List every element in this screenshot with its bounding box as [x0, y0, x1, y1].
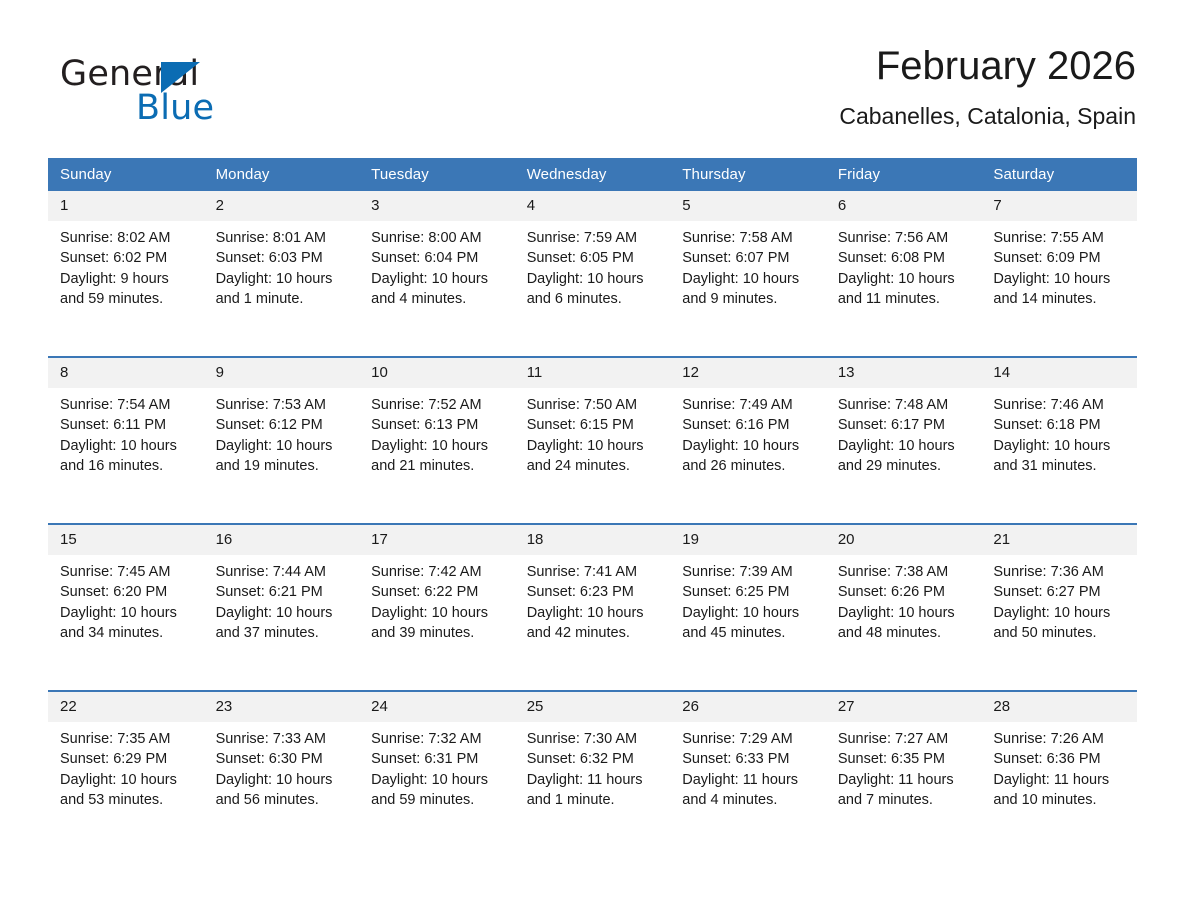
sunrise-text: Sunrise: 7:59 AM: [527, 228, 663, 248]
day-cell[interactable]: 6 Sunrise: 7:56 AM Sunset: 6:08 PM Dayli…: [826, 191, 982, 357]
sunset-text: Sunset: 6:20 PM: [60, 582, 196, 602]
daylight-text: Daylight: 11 hours and 4 minutes.: [682, 770, 818, 811]
day-number: 15: [48, 525, 204, 555]
day-details: Sunrise: 7:27 AM Sunset: 6:35 PM Dayligh…: [826, 722, 982, 811]
page-header: General Blue February 2026 Cabanelles, C…: [48, 40, 1136, 148]
day-details: Sunrise: 7:50 AM Sunset: 6:15 PM Dayligh…: [515, 388, 671, 477]
sunset-text: Sunset: 6:21 PM: [216, 582, 352, 602]
page-title: February 2026: [839, 40, 1136, 92]
day-cell[interactable]: 25 Sunrise: 7:30 AM Sunset: 6:32 PM Dayl…: [515, 691, 671, 857]
sunset-text: Sunset: 6:09 PM: [993, 248, 1129, 268]
sunset-text: Sunset: 6:07 PM: [682, 248, 818, 268]
sunset-text: Sunset: 6:12 PM: [216, 415, 352, 435]
sunrise-text: Sunrise: 7:52 AM: [371, 395, 507, 415]
day-number: 11: [515, 358, 671, 388]
day-number: 4: [515, 191, 671, 221]
day-number: 2: [204, 191, 360, 221]
calendar-week-row: 8 Sunrise: 7:54 AM Sunset: 6:11 PM Dayli…: [48, 357, 1137, 524]
day-cell[interactable]: 21 Sunrise: 7:36 AM Sunset: 6:27 PM Dayl…: [981, 524, 1137, 691]
day-cell[interactable]: 4 Sunrise: 7:59 AM Sunset: 6:05 PM Dayli…: [515, 191, 671, 357]
day-cell[interactable]: 3 Sunrise: 8:00 AM Sunset: 6:04 PM Dayli…: [359, 191, 515, 357]
day-cell[interactable]: 18 Sunrise: 7:41 AM Sunset: 6:23 PM Dayl…: [515, 524, 671, 691]
sunset-text: Sunset: 6:31 PM: [371, 749, 507, 769]
day-cell[interactable]: 27 Sunrise: 7:27 AM Sunset: 6:35 PM Dayl…: [826, 691, 982, 857]
day-details: Sunrise: 7:46 AM Sunset: 6:18 PM Dayligh…: [981, 388, 1137, 477]
sunset-text: Sunset: 6:16 PM: [682, 415, 818, 435]
day-cell[interactable]: 23 Sunrise: 7:33 AM Sunset: 6:30 PM Dayl…: [204, 691, 360, 857]
sunset-text: Sunset: 6:23 PM: [527, 582, 663, 602]
sunrise-text: Sunrise: 7:29 AM: [682, 729, 818, 749]
sunrise-text: Sunrise: 7:35 AM: [60, 729, 196, 749]
day-number: 17: [359, 525, 515, 555]
day-details: Sunrise: 7:56 AM Sunset: 6:08 PM Dayligh…: [826, 221, 982, 310]
daylight-text: Daylight: 10 hours and 37 minutes.: [216, 603, 352, 644]
daylight-text: Daylight: 10 hours and 53 minutes.: [60, 770, 196, 811]
day-details: Sunrise: 7:59 AM Sunset: 6:05 PM Dayligh…: [515, 221, 671, 310]
day-number: 8: [48, 358, 204, 388]
day-cell[interactable]: 22 Sunrise: 7:35 AM Sunset: 6:29 PM Dayl…: [48, 691, 204, 857]
weekday-header-wednesday: Wednesday: [515, 158, 671, 191]
calendar-week-row: 22 Sunrise: 7:35 AM Sunset: 6:29 PM Dayl…: [48, 691, 1137, 857]
weekday-header-sunday: Sunday: [48, 158, 204, 191]
day-details: Sunrise: 7:32 AM Sunset: 6:31 PM Dayligh…: [359, 722, 515, 811]
sunset-text: Sunset: 6:33 PM: [682, 749, 818, 769]
sunset-text: Sunset: 6:29 PM: [60, 749, 196, 769]
sunset-text: Sunset: 6:32 PM: [527, 749, 663, 769]
weekday-header-friday: Friday: [826, 158, 982, 191]
generalblue-logo[interactable]: General Blue: [60, 54, 350, 134]
sunset-text: Sunset: 6:35 PM: [838, 749, 974, 769]
daylight-text: Daylight: 10 hours and 11 minutes.: [838, 269, 974, 310]
day-number: 1: [48, 191, 204, 221]
daylight-text: Daylight: 10 hours and 45 minutes.: [682, 603, 818, 644]
daylight-text: Daylight: 9 hours and 59 minutes.: [60, 269, 196, 310]
logo-text-blue: Blue: [136, 88, 214, 128]
daylight-text: Daylight: 10 hours and 34 minutes.: [60, 603, 196, 644]
day-cell[interactable]: 13 Sunrise: 7:48 AM Sunset: 6:17 PM Dayl…: [826, 357, 982, 524]
sunrise-text: Sunrise: 8:01 AM: [216, 228, 352, 248]
daylight-text: Daylight: 11 hours and 7 minutes.: [838, 770, 974, 811]
calendar-week-row: 15 Sunrise: 7:45 AM Sunset: 6:20 PM Dayl…: [48, 524, 1137, 691]
day-cell[interactable]: 15 Sunrise: 7:45 AM Sunset: 6:20 PM Dayl…: [48, 524, 204, 691]
day-number: 6: [826, 191, 982, 221]
sunrise-text: Sunrise: 7:45 AM: [60, 562, 196, 582]
day-cell[interactable]: 26 Sunrise: 7:29 AM Sunset: 6:33 PM Dayl…: [670, 691, 826, 857]
sunrise-text: Sunrise: 7:38 AM: [838, 562, 974, 582]
daylight-text: Daylight: 10 hours and 56 minutes.: [216, 770, 352, 811]
daylight-text: Daylight: 10 hours and 48 minutes.: [838, 603, 974, 644]
day-details: Sunrise: 7:36 AM Sunset: 6:27 PM Dayligh…: [981, 555, 1137, 644]
sunset-text: Sunset: 6:02 PM: [60, 248, 196, 268]
day-cell[interactable]: 11 Sunrise: 7:50 AM Sunset: 6:15 PM Dayl…: [515, 357, 671, 524]
daylight-text: Daylight: 10 hours and 9 minutes.: [682, 269, 818, 310]
day-details: Sunrise: 7:42 AM Sunset: 6:22 PM Dayligh…: [359, 555, 515, 644]
sunrise-text: Sunrise: 7:48 AM: [838, 395, 974, 415]
day-details: Sunrise: 7:35 AM Sunset: 6:29 PM Dayligh…: [48, 722, 204, 811]
day-details: Sunrise: 8:01 AM Sunset: 6:03 PM Dayligh…: [204, 221, 360, 310]
day-details: Sunrise: 7:45 AM Sunset: 6:20 PM Dayligh…: [48, 555, 204, 644]
sunrise-text: Sunrise: 8:02 AM: [60, 228, 196, 248]
day-number: 21: [981, 525, 1137, 555]
sunrise-text: Sunrise: 7:39 AM: [682, 562, 818, 582]
daylight-text: Daylight: 10 hours and 14 minutes.: [993, 269, 1129, 310]
weekday-header-tuesday: Tuesday: [359, 158, 515, 191]
sunset-text: Sunset: 6:25 PM: [682, 582, 818, 602]
day-number: 7: [981, 191, 1137, 221]
sunset-text: Sunset: 6:04 PM: [371, 248, 507, 268]
day-details: Sunrise: 7:58 AM Sunset: 6:07 PM Dayligh…: [670, 221, 826, 310]
sunrise-text: Sunrise: 7:54 AM: [60, 395, 196, 415]
day-cell[interactable]: 12 Sunrise: 7:49 AM Sunset: 6:16 PM Dayl…: [670, 357, 826, 524]
sunset-text: Sunset: 6:17 PM: [838, 415, 974, 435]
day-details: Sunrise: 7:44 AM Sunset: 6:21 PM Dayligh…: [204, 555, 360, 644]
day-cell[interactable]: 1 Sunrise: 8:02 AM Sunset: 6:02 PM Dayli…: [48, 191, 204, 357]
day-details: Sunrise: 7:49 AM Sunset: 6:16 PM Dayligh…: [670, 388, 826, 477]
day-cell[interactable]: 7 Sunrise: 7:55 AM Sunset: 6:09 PM Dayli…: [981, 191, 1137, 357]
daylight-text: Daylight: 10 hours and 29 minutes.: [838, 436, 974, 477]
calendar-page: General Blue February 2026 Cabanelles, C…: [0, 0, 1188, 918]
sunrise-sunset-calendar: Sunday Monday Tuesday Wednesday Thursday…: [48, 158, 1137, 857]
day-number: 23: [204, 692, 360, 722]
sunrise-text: Sunrise: 7:27 AM: [838, 729, 974, 749]
sunset-text: Sunset: 6:26 PM: [838, 582, 974, 602]
sunrise-text: Sunrise: 8:00 AM: [371, 228, 507, 248]
day-cell[interactable]: 24 Sunrise: 7:32 AM Sunset: 6:31 PM Dayl…: [359, 691, 515, 857]
sunrise-text: Sunrise: 7:50 AM: [527, 395, 663, 415]
day-details: Sunrise: 7:54 AM Sunset: 6:11 PM Dayligh…: [48, 388, 204, 477]
weekday-header-monday: Monday: [204, 158, 360, 191]
weekday-header-thursday: Thursday: [670, 158, 826, 191]
day-details: Sunrise: 8:00 AM Sunset: 6:04 PM Dayligh…: [359, 221, 515, 310]
day-details: Sunrise: 7:29 AM Sunset: 6:33 PM Dayligh…: [670, 722, 826, 811]
day-cell[interactable]: 5 Sunrise: 7:58 AM Sunset: 6:07 PM Dayli…: [670, 191, 826, 357]
day-number: 26: [670, 692, 826, 722]
daylight-text: Daylight: 10 hours and 24 minutes.: [527, 436, 663, 477]
day-cell[interactable]: 8 Sunrise: 7:54 AM Sunset: 6:11 PM Dayli…: [48, 357, 204, 524]
sunset-text: Sunset: 6:18 PM: [993, 415, 1129, 435]
sunrise-text: Sunrise: 7:36 AM: [993, 562, 1129, 582]
title-block: February 2026 Cabanelles, Catalonia, Spa…: [839, 40, 1136, 132]
day-details: Sunrise: 7:52 AM Sunset: 6:13 PM Dayligh…: [359, 388, 515, 477]
day-cell[interactable]: 2 Sunrise: 8:01 AM Sunset: 6:03 PM Dayli…: [204, 191, 360, 357]
day-details: Sunrise: 7:53 AM Sunset: 6:12 PM Dayligh…: [204, 388, 360, 477]
day-cell[interactable]: 14 Sunrise: 7:46 AM Sunset: 6:18 PM Dayl…: [981, 357, 1137, 524]
day-details: Sunrise: 7:33 AM Sunset: 6:30 PM Dayligh…: [204, 722, 360, 811]
sunrise-text: Sunrise: 7:56 AM: [838, 228, 974, 248]
day-details: Sunrise: 7:39 AM Sunset: 6:25 PM Dayligh…: [670, 555, 826, 644]
daylight-text: Daylight: 11 hours and 1 minute.: [527, 770, 663, 811]
calendar-week-row: 1 Sunrise: 8:02 AM Sunset: 6:02 PM Dayli…: [48, 191, 1137, 357]
day-number: 10: [359, 358, 515, 388]
day-number: 28: [981, 692, 1137, 722]
sunrise-text: Sunrise: 7:30 AM: [527, 729, 663, 749]
day-cell[interactable]: 16 Sunrise: 7:44 AM Sunset: 6:21 PM Dayl…: [204, 524, 360, 691]
day-details: Sunrise: 7:48 AM Sunset: 6:17 PM Dayligh…: [826, 388, 982, 477]
day-details: Sunrise: 7:41 AM Sunset: 6:23 PM Dayligh…: [515, 555, 671, 644]
day-details: Sunrise: 7:26 AM Sunset: 6:36 PM Dayligh…: [981, 722, 1137, 811]
calendar-body: 1 Sunrise: 8:02 AM Sunset: 6:02 PM Dayli…: [48, 191, 1137, 857]
day-number: 13: [826, 358, 982, 388]
day-number: 22: [48, 692, 204, 722]
sunset-text: Sunset: 6:22 PM: [371, 582, 507, 602]
day-number: 14: [981, 358, 1137, 388]
day-number: 27: [826, 692, 982, 722]
sunset-text: Sunset: 6:30 PM: [216, 749, 352, 769]
sunrise-text: Sunrise: 7:44 AM: [216, 562, 352, 582]
sunrise-text: Sunrise: 7:42 AM: [371, 562, 507, 582]
day-number: 9: [204, 358, 360, 388]
daylight-text: Daylight: 10 hours and 6 minutes.: [527, 269, 663, 310]
daylight-text: Daylight: 10 hours and 42 minutes.: [527, 603, 663, 644]
sunrise-text: Sunrise: 7:55 AM: [993, 228, 1129, 248]
day-cell[interactable]: 28 Sunrise: 7:26 AM Sunset: 6:36 PM Dayl…: [981, 691, 1137, 857]
day-number: 12: [670, 358, 826, 388]
day-number: 19: [670, 525, 826, 555]
sunset-text: Sunset: 6:08 PM: [838, 248, 974, 268]
daylight-text: Daylight: 10 hours and 4 minutes.: [371, 269, 507, 310]
day-details: Sunrise: 7:30 AM Sunset: 6:32 PM Dayligh…: [515, 722, 671, 811]
daylight-text: Daylight: 10 hours and 59 minutes.: [371, 770, 507, 811]
daylight-text: Daylight: 10 hours and 1 minute.: [216, 269, 352, 310]
daylight-text: Daylight: 10 hours and 16 minutes.: [60, 436, 196, 477]
sunrise-text: Sunrise: 7:49 AM: [682, 395, 818, 415]
weekday-header-saturday: Saturday: [981, 158, 1137, 191]
day-cell[interactable]: 17 Sunrise: 7:42 AM Sunset: 6:22 PM Dayl…: [359, 524, 515, 691]
day-details: Sunrise: 7:38 AM Sunset: 6:26 PM Dayligh…: [826, 555, 982, 644]
day-details: Sunrise: 7:55 AM Sunset: 6:09 PM Dayligh…: [981, 221, 1137, 310]
daylight-text: Daylight: 10 hours and 31 minutes.: [993, 436, 1129, 477]
sunset-text: Sunset: 6:13 PM: [371, 415, 507, 435]
sunrise-text: Sunrise: 7:32 AM: [371, 729, 507, 749]
day-number: 5: [670, 191, 826, 221]
day-number: 18: [515, 525, 671, 555]
day-cell[interactable]: 19 Sunrise: 7:39 AM Sunset: 6:25 PM Dayl…: [670, 524, 826, 691]
sunrise-text: Sunrise: 7:26 AM: [993, 729, 1129, 749]
daylight-text: Daylight: 10 hours and 21 minutes.: [371, 436, 507, 477]
sunset-text: Sunset: 6:05 PM: [527, 248, 663, 268]
day-cell[interactable]: 9 Sunrise: 7:53 AM Sunset: 6:12 PM Dayli…: [204, 357, 360, 524]
day-details: Sunrise: 8:02 AM Sunset: 6:02 PM Dayligh…: [48, 221, 204, 310]
day-number: 25: [515, 692, 671, 722]
daylight-text: Daylight: 10 hours and 19 minutes.: [216, 436, 352, 477]
calendar-header-row: Sunday Monday Tuesday Wednesday Thursday…: [48, 158, 1137, 191]
page-subtitle: Cabanelles, Catalonia, Spain: [839, 100, 1136, 132]
sunset-text: Sunset: 6:11 PM: [60, 415, 196, 435]
sunset-text: Sunset: 6:15 PM: [527, 415, 663, 435]
day-cell[interactable]: 10 Sunrise: 7:52 AM Sunset: 6:13 PM Dayl…: [359, 357, 515, 524]
day-number: 16: [204, 525, 360, 555]
sunrise-text: Sunrise: 7:33 AM: [216, 729, 352, 749]
day-number: 20: [826, 525, 982, 555]
daylight-text: Daylight: 10 hours and 50 minutes.: [993, 603, 1129, 644]
sunrise-text: Sunrise: 7:53 AM: [216, 395, 352, 415]
day-number: 3: [359, 191, 515, 221]
sunset-text: Sunset: 6:03 PM: [216, 248, 352, 268]
day-number: 24: [359, 692, 515, 722]
day-cell[interactable]: 20 Sunrise: 7:38 AM Sunset: 6:26 PM Dayl…: [826, 524, 982, 691]
daylight-text: Daylight: 11 hours and 10 minutes.: [993, 770, 1129, 811]
sunrise-text: Sunrise: 7:58 AM: [682, 228, 818, 248]
sunrise-text: Sunrise: 7:46 AM: [993, 395, 1129, 415]
sunset-text: Sunset: 6:36 PM: [993, 749, 1129, 769]
sunrise-text: Sunrise: 7:41 AM: [527, 562, 663, 582]
sunset-text: Sunset: 6:27 PM: [993, 582, 1129, 602]
daylight-text: Daylight: 10 hours and 26 minutes.: [682, 436, 818, 477]
daylight-text: Daylight: 10 hours and 39 minutes.: [371, 603, 507, 644]
